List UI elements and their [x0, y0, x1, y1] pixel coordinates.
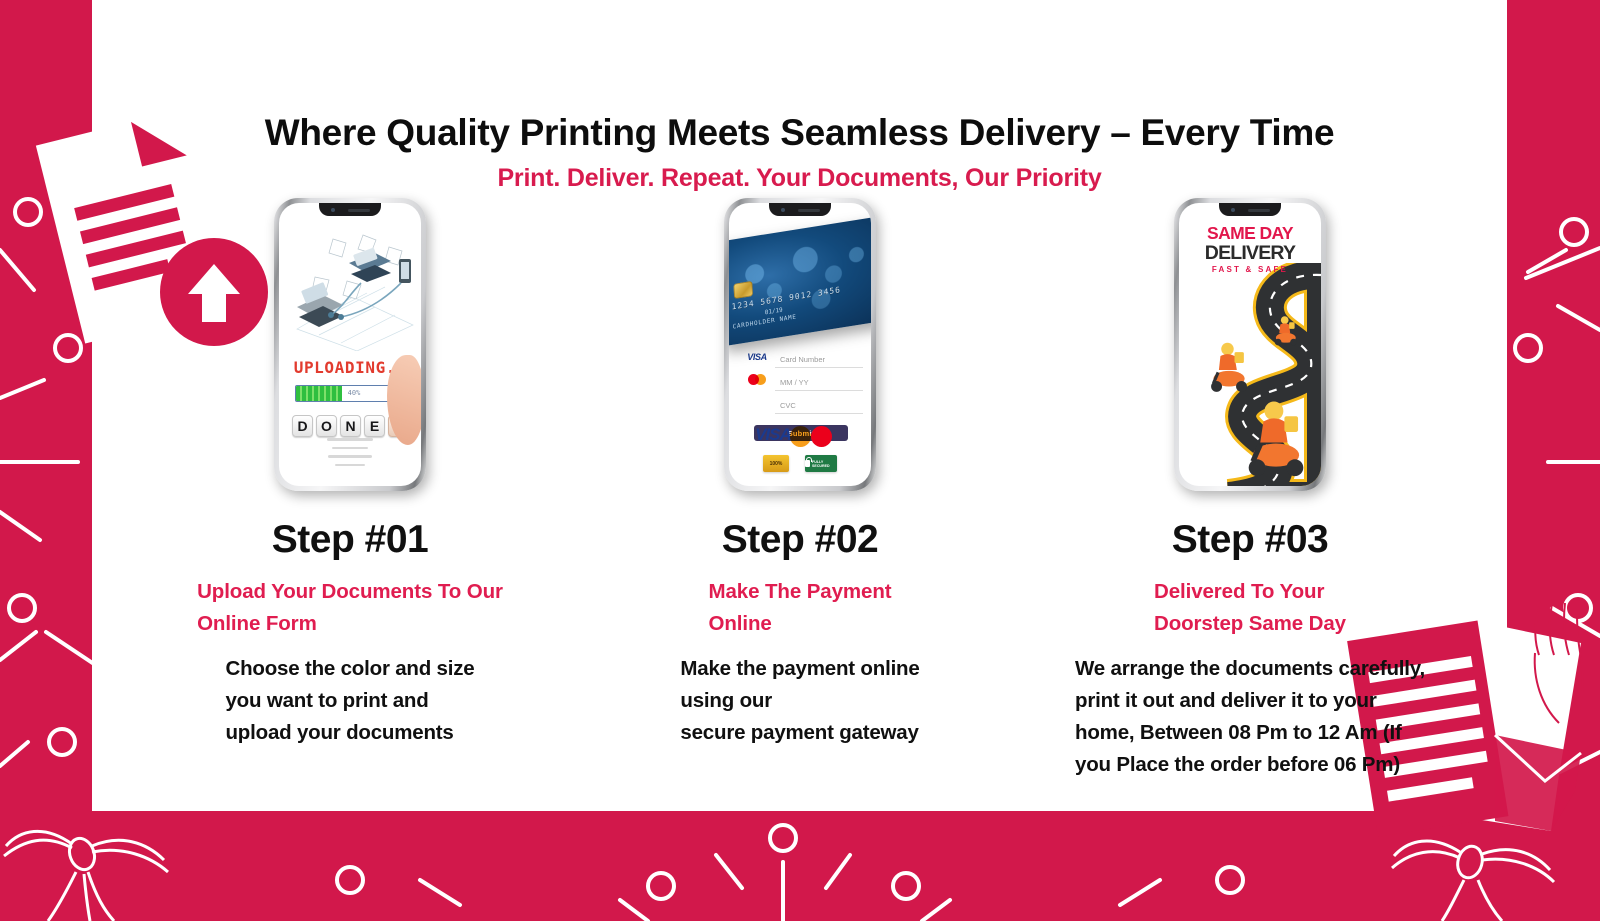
cvc-row: CVC — [739, 391, 863, 414]
delivery-line-2: DELIVERY — [1179, 243, 1321, 263]
cvc-input[interactable]: CVC — [775, 401, 863, 414]
poster-canvas: Where Quality Printing Meets Seamless De… — [0, 0, 1600, 921]
card-chip-icon — [733, 281, 753, 299]
payment-logos: VISA mastercard — [729, 425, 871, 445]
step-description: Choose the color and size you want to pr… — [225, 653, 474, 749]
step-description: We arrange the documents carefully, prin… — [1075, 653, 1425, 781]
step-number: Step #03 — [1172, 520, 1328, 559]
expiry-row: MM / YY — [739, 368, 863, 391]
mastercard-icon — [739, 374, 775, 385]
guarantee-badge: 100% — [763, 455, 789, 472]
mastercard-logo: mastercard — [811, 426, 845, 444]
phone-mockup-1: UPLOADING.. 40% D O N E ? — [274, 198, 426, 498]
step-number: Step #02 — [722, 520, 878, 559]
phone-notch — [319, 203, 381, 216]
credit-card-graphic: 1234 5678 9012 3456 01/19 CARDHOLDER NAM… — [729, 215, 871, 346]
card-number-input[interactable]: Card Number — [775, 355, 863, 368]
secure-badge: FULLY SECURED — [805, 455, 837, 472]
steps-row: UPLOADING.. 40% D O N E ? — [150, 198, 1450, 781]
step-description: Make the payment online using our secure… — [680, 653, 919, 749]
visa-icon: VISA — [739, 352, 775, 362]
step-headline: Upload Your Documents To Our Online Form — [197, 576, 503, 639]
step-card-2: 1234 5678 9012 3456 01/19 CARDHOLDER NAM… — [600, 198, 1000, 781]
phone-mockup-2: 1234 5678 9012 3456 01/19 CARDHOLDER NAM… — [724, 198, 876, 498]
upload-illustration — [289, 233, 421, 351]
step-headline: Make The Payment Online — [709, 576, 892, 639]
page-title: Where Quality Printing Meets Seamless De… — [92, 112, 1507, 155]
delivery-line-1: SAME DAY — [1179, 225, 1321, 243]
delivery-road-illustration — [1179, 263, 1321, 486]
secure-badge-label: FULLY SECURED — [812, 460, 837, 468]
step-card-1: UPLOADING.. 40% D O N E ? — [150, 198, 550, 781]
card-number-row: VISA Card Number — [739, 345, 863, 368]
phone-mockup-3: SAME DAY DELIVERY FAST & SAFE — [1174, 198, 1326, 498]
phone-notch — [1219, 203, 1281, 216]
trust-badges: 100% FULLY SECURED — [729, 455, 871, 472]
scooter-rider — [1211, 343, 1247, 392]
phone-notch — [769, 203, 831, 216]
ribbon-bow-decoration — [4, 831, 168, 921]
visa-logo: VISA — [755, 425, 791, 445]
header-block: Where Quality Printing Meets Seamless De… — [92, 112, 1507, 193]
ribbon-bow-decoration-right — [1392, 841, 1554, 921]
delivery-headline: SAME DAY DELIVERY FAST & SAFE — [1179, 225, 1321, 274]
step-card-3: SAME DAY DELIVERY FAST & SAFE — [1050, 198, 1450, 781]
page-subtitle: Print. Deliver. Repeat. Your Documents, … — [92, 164, 1507, 193]
expiry-input[interactable]: MM / YY — [775, 378, 863, 391]
lock-icon — [805, 460, 810, 467]
step-headline: Delivered To Your Doorstep Same Day — [1154, 576, 1346, 639]
step-number: Step #01 — [272, 520, 428, 559]
delivery-line-3: FAST & SAFE — [1179, 265, 1321, 274]
